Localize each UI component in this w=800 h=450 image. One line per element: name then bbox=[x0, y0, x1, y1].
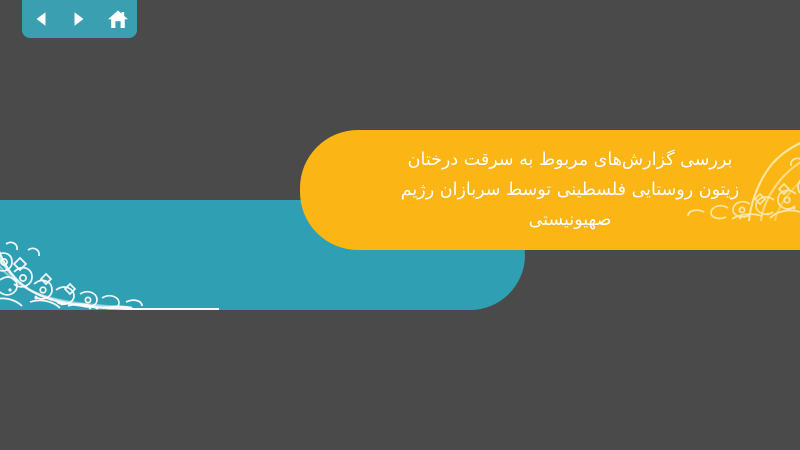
back-button[interactable] bbox=[28, 7, 54, 31]
title-line-1: بررسی گزارش‌های مربوط به سرقت درختان bbox=[408, 145, 733, 175]
next-arrow-icon bbox=[69, 9, 89, 29]
banner-title-text: بررسی گزارش‌های مربوط به سرقت درختان زیت… bbox=[300, 130, 800, 250]
forward-button[interactable] bbox=[66, 7, 92, 31]
home-button[interactable] bbox=[105, 7, 131, 31]
title-line-3: صهیونیستی bbox=[529, 205, 612, 235]
title-line-2: زیتون روستایی فلسطینی توسط سربازان رژیم bbox=[401, 175, 740, 205]
navigation-bar bbox=[22, 0, 137, 38]
arabesque-ornament-teal bbox=[0, 220, 220, 310]
home-icon bbox=[107, 9, 129, 30]
title-banner: بررسی گزارش‌های مربوط به سرقت درختان زیت… bbox=[300, 130, 800, 250]
previous-arrow-icon bbox=[31, 9, 51, 29]
slide-canvas: بررسی گزارش‌های مربوط به سرقت درختان زیت… bbox=[0, 0, 800, 450]
